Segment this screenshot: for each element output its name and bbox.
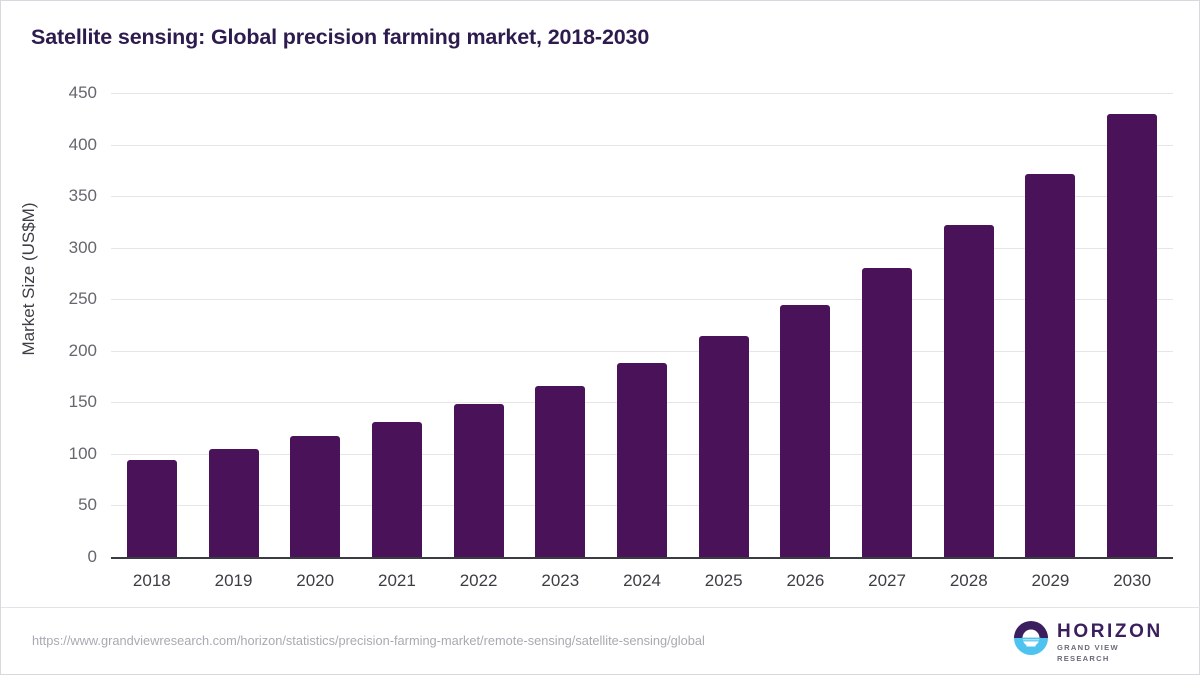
logo-wordmark: HORIZON <box>1057 622 1173 642</box>
horizon-logo-text: HORIZON GRAND VIEW RESEARCH <box>1057 622 1173 664</box>
x-axis-tick-label: 2026 <box>765 571 845 591</box>
bar[interactable] <box>372 422 422 557</box>
bar[interactable] <box>944 225 994 557</box>
y-axis-tick-label: 450 <box>35 83 97 103</box>
y-axis-tick-label: 250 <box>35 289 97 309</box>
y-axis-tick-label: 100 <box>35 444 97 464</box>
y-axis-tick-label: 400 <box>35 135 97 155</box>
bar[interactable] <box>1025 174 1075 557</box>
bar-column[interactable] <box>617 93 667 557</box>
bar-column[interactable] <box>862 93 912 557</box>
x-axis-tick-label: 2022 <box>439 571 519 591</box>
bar-column[interactable] <box>127 93 177 557</box>
chart-figure: Satellite sensing: Global precision farm… <box>0 0 1200 675</box>
x-axis-line <box>111 557 1173 559</box>
x-axis-tick-label: 2019 <box>194 571 274 591</box>
bar[interactable] <box>290 436 340 557</box>
x-axis-tick-label: 2028 <box>929 571 1009 591</box>
x-axis-tick-label: 2024 <box>602 571 682 591</box>
chart-title: Satellite sensing: Global precision farm… <box>31 25 649 50</box>
bar-column[interactable] <box>290 93 340 557</box>
bar[interactable] <box>780 305 830 557</box>
bar-column[interactable] <box>1025 93 1075 557</box>
y-axis-title: Market Size (US$M) <box>19 79 39 479</box>
x-axis-tick-label: 2025 <box>684 571 764 591</box>
bar[interactable] <box>699 336 749 557</box>
bar-column[interactable] <box>699 93 749 557</box>
y-axis-tick-label: 350 <box>35 186 97 206</box>
horizon-logo[interactable]: HORIZON GRAND VIEW RESEARCH <box>1013 619 1173 659</box>
x-axis-tick-label: 2029 <box>1010 571 1090 591</box>
y-axis-tick-label: 0 <box>35 547 97 567</box>
bar-column[interactable] <box>1107 93 1157 557</box>
horizon-logo-mark-icon <box>1013 620 1049 656</box>
bar-column[interactable] <box>780 93 830 557</box>
y-axis-tick-label: 300 <box>35 238 97 258</box>
y-axis-tick-label: 200 <box>35 341 97 361</box>
footer-divider <box>1 607 1200 608</box>
bar[interactable] <box>127 460 177 557</box>
bar[interactable] <box>209 449 259 557</box>
bar[interactable] <box>862 268 912 557</box>
bar-column[interactable] <box>454 93 504 557</box>
source-url[interactable]: https://www.grandviewresearch.com/horizo… <box>32 633 705 648</box>
y-axis-tick-labels: 050100150200250300350400450 <box>29 1 97 676</box>
bar[interactable] <box>454 404 504 557</box>
y-axis-tick-label: 150 <box>35 392 97 412</box>
x-axis-tick-label: 2027 <box>847 571 927 591</box>
bar[interactable] <box>1107 114 1157 557</box>
x-axis-tick-label: 2020 <box>275 571 355 591</box>
bar-column[interactable] <box>209 93 259 557</box>
x-axis-tick-label: 2030 <box>1092 571 1172 591</box>
x-axis-tick-label: 2023 <box>520 571 600 591</box>
bar-column[interactable] <box>372 93 422 557</box>
bar-column[interactable] <box>535 93 585 557</box>
x-axis-tick-label: 2018 <box>112 571 192 591</box>
logo-tagline: GRAND VIEW RESEARCH <box>1057 642 1173 664</box>
bar[interactable] <box>617 363 667 557</box>
plot-area <box>111 93 1173 557</box>
bar-column[interactable] <box>944 93 994 557</box>
x-axis-tick-label: 2021 <box>357 571 437 591</box>
bar[interactable] <box>535 386 585 557</box>
y-axis-tick-label: 50 <box>35 495 97 515</box>
